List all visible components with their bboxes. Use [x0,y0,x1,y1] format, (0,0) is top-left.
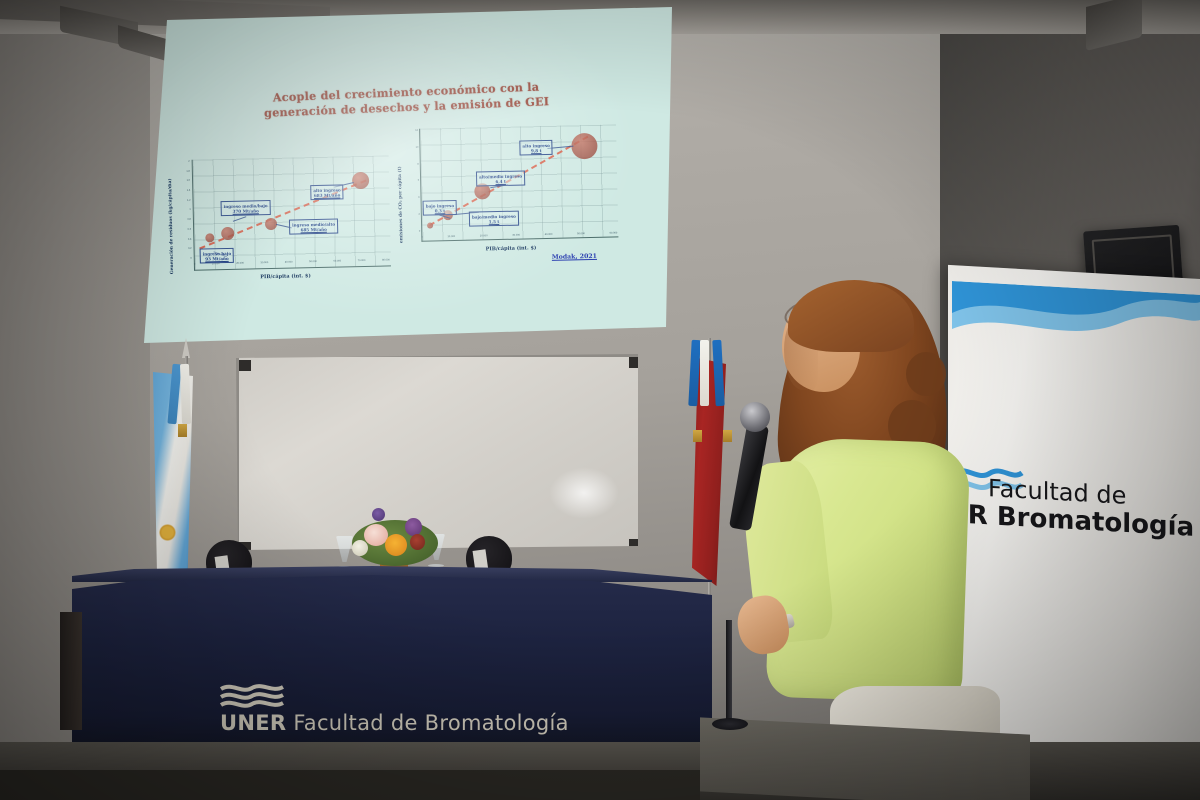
callout-bajo-ingreso: bajo ingreso 0,3 t [423,200,458,216]
door-frame [60,612,82,730]
slide-title: Acople del crecimiento económico con la … [246,78,567,120]
chart-y-ticks: 21,81,61,41,2 10,80,60,40,20 [181,160,192,260]
chart-x-axis-label: PIB/cápita (int. $) [260,273,311,280]
flag-tassel [693,430,702,442]
callout-alto-ingreso: alto ingreso 683 Mt/año [310,184,344,200]
flag-tassel [178,424,187,437]
chart-waste-generation: 21,81,61,41,2 10,80,60,40,20 010.00020.0… [192,155,390,269]
callout-ingreso-medio-alto: ingreso medio/alto 685 Mt/año [289,219,338,235]
water-glass-base [428,564,444,567]
rope-stanchion-post [726,620,732,728]
banner-top-stripe [952,281,1200,365]
rope-stanchion-base [712,718,748,730]
presenter-hair-curl [906,352,946,396]
chart-y-axis-label: emisiones de CO₂ per cápita (t) [397,127,405,243]
callout-alto-medio-ingreso: alto/medio ingreso 6,4 t [476,170,525,186]
callout-value: 6,4 t [495,179,506,184]
callout-value: 9,8 t [531,148,542,153]
slide-citation: Modak, 2021 [552,253,597,261]
callout-value: 370 Mt/año [233,208,259,214]
uner-logo: UNER Facultad de Bromatología [220,683,569,735]
chart-x-axis-label: PIB/cápita (int. $) [486,245,537,252]
chart-co2-emissions: 121086420 010.00020.00030.000 40.00050.0… [419,124,617,240]
callout-alto-ingreso: alto ingreso 9,8 t [519,140,553,156]
callout-ingreso-medio-bajo: ingreso medio/bajo 370 Mt/año [221,200,271,216]
whiteboard [236,354,644,556]
uner-brand-bold: UNER [220,711,286,735]
uner-brand-text: UNER Facultad de Bromatología [220,711,569,735]
whiteboard-corner [239,360,251,371]
callout-value: 683 Mt/año [314,192,340,198]
projection-screen: Acople del crecimiento económico con la … [144,7,672,343]
flower-bloom-violet [372,508,385,521]
uner-brand-rest: Facultad de Bromatología [286,711,568,735]
flag-ribbon [700,340,709,406]
flagpole-finial-left [182,338,190,358]
flag-tassel [723,430,732,442]
chart-y-axis-label: Generación de residuos (kg/cápita/día) [168,156,176,274]
uner-wave-icon [220,683,284,709]
callout-value: 93 Mt/año [205,256,229,262]
callout-value: 685 Mt/año [301,226,327,232]
flower-bloom-white [352,540,368,556]
floor-shadow [0,770,700,800]
sun-of-may-icon [159,524,176,541]
head-table-skirt: UNER Facultad de Bromatología [72,575,712,763]
whiteboard-glare [549,467,619,519]
flower-bloom-red [410,534,425,550]
callout-bajo-medio-ingreso: bajo/medio ingreso 1,5 t [469,211,519,227]
callout-value: 1,5 t [489,219,500,224]
flower-bloom-orange [385,534,407,556]
callout-ingreso-bajo: ingreso bajo 93 Mt/año [200,248,235,264]
presentation-photo-scene: Acople del crecimiento económico con la … [0,0,1200,800]
callout-value: 0,3 t [435,208,446,213]
